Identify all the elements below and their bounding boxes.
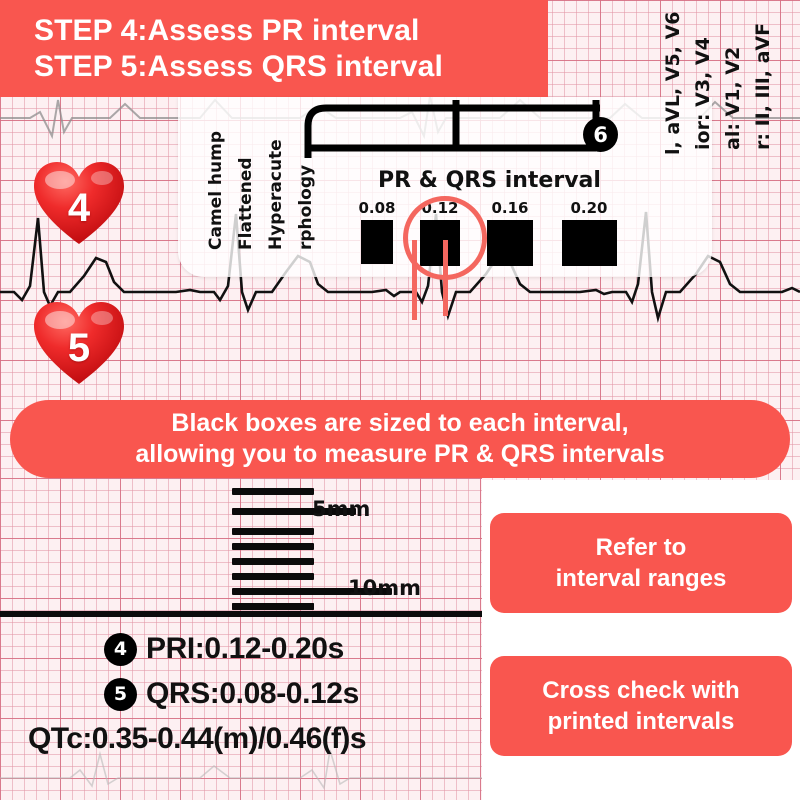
heart-badge-4-number: 4 bbox=[32, 186, 126, 231]
caliper-line-left bbox=[412, 240, 417, 320]
morphology-column-3: Flattened bbox=[236, 100, 256, 250]
interval-row-qrs: 5 QRS:0.08-0.12s bbox=[104, 677, 359, 711]
interval-label-016: 0.16 bbox=[477, 200, 543, 216]
ruler-tick-9 bbox=[232, 603, 314, 610]
ruler-tick-3 bbox=[232, 528, 314, 535]
ruler-label-10mm: 10mm bbox=[348, 576, 421, 600]
action-refer-line-1: Refer to bbox=[596, 532, 687, 563]
interval-black-box-020 bbox=[562, 220, 617, 266]
lead-group-lateral: l, aVL, V5, V6 bbox=[662, 0, 684, 155]
step-header-banner: STEP 4:Assess PR interval STEP 5:Assess … bbox=[0, 0, 548, 97]
pr-qrs-interval-title: PR & QRS interval bbox=[378, 168, 601, 193]
heart-badge-5-number: 5 bbox=[32, 326, 126, 371]
morphology-column-4: Camel hump bbox=[206, 100, 226, 250]
ruler-tick-5 bbox=[232, 558, 314, 565]
lead-group-septal: al: V1, V2 bbox=[722, 0, 744, 150]
ruler-tick-4 bbox=[232, 543, 314, 550]
caliper-line-right bbox=[443, 240, 448, 316]
lead-group-anterior: ior: V3, V4 bbox=[692, 0, 714, 150]
interval-box-008[interactable]: 0.08 bbox=[348, 200, 406, 264]
lead-group-inferior: r: II, III, aVF bbox=[752, 0, 774, 150]
interval-row-qtc: QTc:0.35-0.44(m)/0.46(f)s bbox=[28, 722, 366, 756]
interval-label-020: 0.20 bbox=[553, 200, 625, 216]
morphology-column-2: Hyperacute bbox=[266, 100, 286, 250]
heart-badge-4: 4 bbox=[32, 160, 126, 246]
interval-row-pri-text: PRI:0.12-0.20s bbox=[146, 632, 344, 666]
ruler-baseline bbox=[0, 611, 482, 617]
heart-badge-5: 5 bbox=[32, 300, 126, 386]
interval-black-box-008 bbox=[361, 220, 393, 264]
step-6-badge: 6 bbox=[583, 117, 618, 152]
action-refer-line-2: interval ranges bbox=[556, 563, 727, 594]
instruction-banner-line-2: allowing you to measure PR & QRS interva… bbox=[135, 439, 664, 470]
interval-row-pri-badge: 4 bbox=[104, 633, 137, 666]
interval-box-020[interactable]: 0.20 bbox=[553, 200, 625, 266]
ruler-tick-1 bbox=[232, 488, 314, 495]
instruction-banner-line-1: Black boxes are sized to each interval, bbox=[171, 408, 628, 439]
action-cross-check-printed-intervals[interactable]: Cross check with printed intervals bbox=[490, 656, 792, 756]
ruler-label-5mm: 5mm bbox=[312, 497, 370, 521]
step-4-title: STEP 4:Assess PR interval bbox=[34, 13, 548, 49]
ecg-interval-guide: STEP 4:Assess PR interval STEP 5:Assess … bbox=[0, 0, 800, 800]
interval-row-pri: 4 PRI:0.12-0.20s bbox=[104, 632, 344, 666]
interval-label-008: 0.08 bbox=[348, 200, 406, 216]
step-5-title: STEP 5:Assess QRS interval bbox=[34, 49, 548, 85]
ruler-tick-6 bbox=[232, 573, 314, 580]
action-cross-check-line-2: printed intervals bbox=[548, 706, 735, 737]
action-refer-to-interval-ranges[interactable]: Refer to interval ranges bbox=[490, 513, 792, 613]
instruction-banner: Black boxes are sized to each interval, … bbox=[10, 400, 790, 478]
action-cross-check-line-1: Cross check with bbox=[542, 675, 739, 706]
interval-black-box-016 bbox=[487, 220, 533, 266]
interval-box-016[interactable]: 0.16 bbox=[477, 200, 543, 266]
interval-row-qrs-text: QRS:0.08-0.12s bbox=[146, 677, 359, 711]
interval-row-qrs-badge: 5 bbox=[104, 678, 137, 711]
bracket-connector-horizontal bbox=[300, 100, 606, 160]
